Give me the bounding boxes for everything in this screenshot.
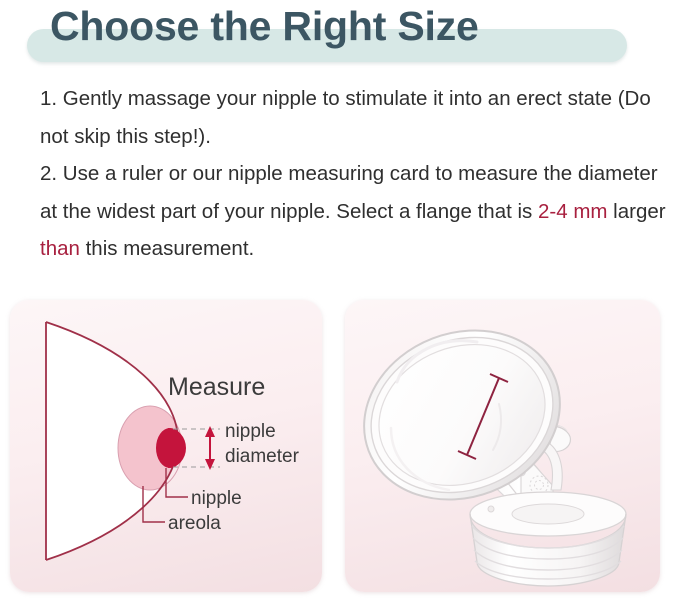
instruction-2-highlight-mm: 2-4 mm	[538, 200, 607, 223]
dimension-label-line1: nipple	[225, 421, 276, 442]
measure-heading: Measure	[168, 373, 265, 401]
instruction-2-part-b: larger	[607, 200, 665, 223]
instruction-step-2: 2. Use a ruler or our nipple measuring c…	[40, 155, 668, 268]
card-measure-diagram: Measure nipple diameter nipple areola	[10, 300, 322, 592]
nipple-dome	[156, 428, 184, 468]
card-flange-photo	[345, 300, 660, 592]
breast-measurement-diagram: Measure nipple diameter nipple areola	[10, 300, 322, 592]
instruction-step-1: 1. Gently massage your nipple to stimula…	[40, 80, 668, 155]
instruction-2-highlight-than: than	[40, 237, 80, 260]
infographic-page: Choose the Right Size 1. Gently massage …	[0, 0, 679, 602]
dimension-arrow-head-up	[205, 426, 215, 437]
dimension-label-line2: diameter	[225, 446, 300, 467]
instruction-1-text: 1. Gently massage your nipple to stimula…	[40, 87, 651, 148]
page-title: Choose the Right Size	[50, 0, 650, 52]
breast-pump-flange-illustration	[345, 300, 660, 592]
instruction-2-part-c: this measurement.	[80, 237, 254, 260]
instructions-block: 1. Gently massage your nipple to stimula…	[40, 80, 668, 268]
page-title-block: Choose the Right Size	[0, 0, 679, 72]
callout-label-areola: areola	[168, 513, 221, 534]
dimension-arrow-head-down	[205, 459, 215, 470]
callout-label-nipple: nipple	[191, 488, 242, 509]
flange-base-group	[470, 492, 626, 586]
base-vent-hole	[488, 506, 494, 512]
base-inner-opening	[512, 504, 584, 524]
